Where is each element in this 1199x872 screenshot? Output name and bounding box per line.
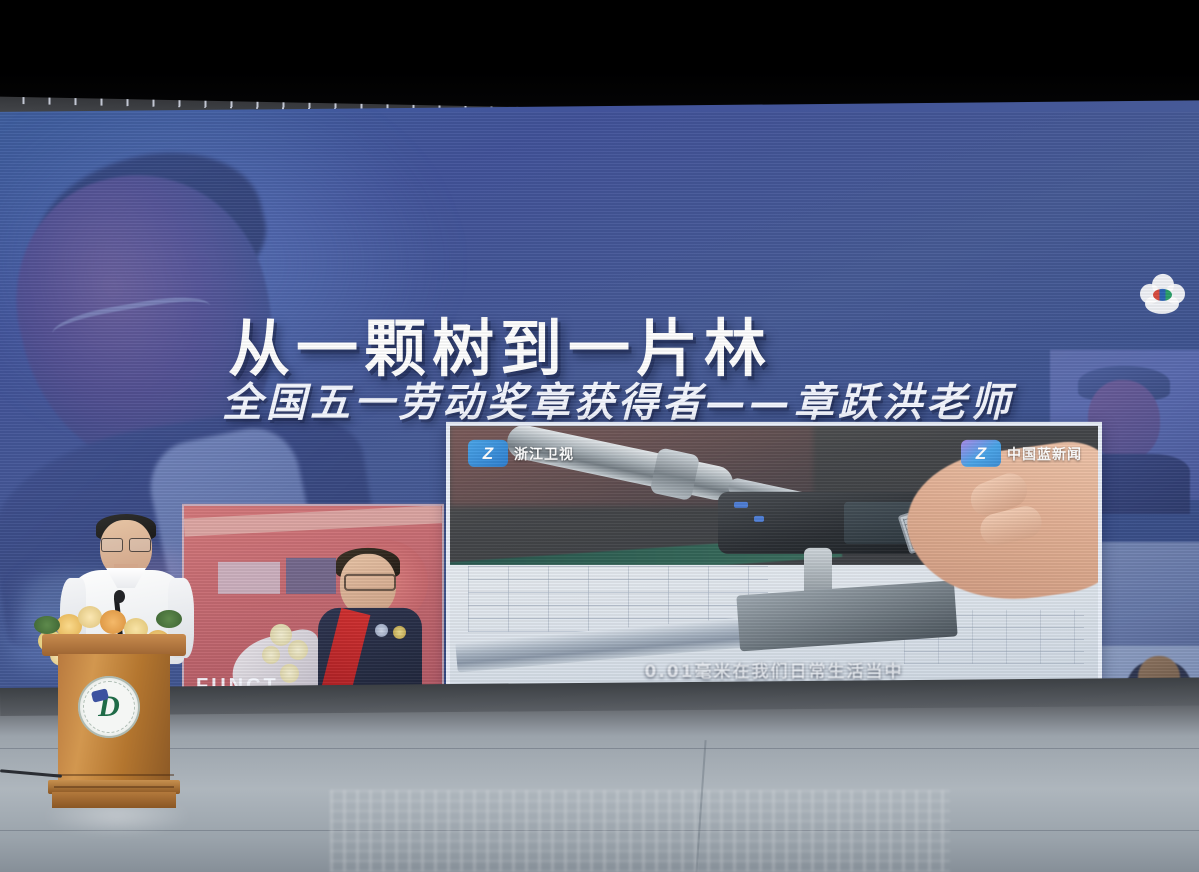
cloud-logo-core (1153, 289, 1172, 301)
wooden-podium: D (48, 634, 180, 808)
caliper-indicator (734, 502, 748, 508)
foliage (156, 610, 182, 628)
emblem-ring (83, 681, 135, 733)
bouquet-flower (280, 664, 299, 683)
recipient-medal (393, 626, 406, 639)
floor-reflection (330, 790, 950, 872)
zhejiang-tv-badge-icon: Z (468, 440, 508, 467)
speaker-glasses-lens (129, 538, 151, 552)
microphone-head-icon (114, 590, 125, 603)
zhejiang-tv-logo: Z 浙江卫视 (468, 440, 574, 467)
speaker-glasses-icon (101, 538, 151, 550)
podium-top (42, 634, 186, 656)
foliage (34, 616, 60, 634)
video-subtitle: 0.01毫米在我们日常生活当中 (450, 657, 1098, 682)
broadcast-video-panel: Z 浙江卫视 Z 中国蓝新闻 0.01毫米在我们日常生活当中 (446, 422, 1102, 697)
stage-scene: 从一颗树到一片林 全国五一劳动奖章获得者——章跃洪老师 (0, 0, 1199, 872)
podium-trim-line (54, 786, 174, 788)
recipient-medal (375, 624, 388, 637)
podium-plinth (52, 792, 176, 808)
cloud-emblem-logo (1136, 272, 1188, 318)
flower (78, 606, 102, 628)
institution-round-emblem: D (78, 676, 140, 738)
bouquet-flower (262, 646, 280, 664)
china-blue-news-logo: Z 中国蓝新闻 (961, 440, 1082, 467)
award-panel (218, 562, 280, 594)
china-blue-label: 中国蓝新闻 (1007, 443, 1082, 463)
speaker-glasses-lens (101, 538, 123, 552)
zhejiang-tv-label: 浙江卫视 (514, 443, 574, 463)
award-ceremony-photo: FUNCT (182, 504, 444, 697)
china-blue-badge-icon: Z (961, 440, 1001, 467)
bouquet-flower (288, 640, 308, 660)
podium-trim-line (54, 774, 174, 776)
recipient-glasses (344, 574, 396, 591)
caliper-indicator (754, 516, 764, 522)
bouquet-flower (270, 624, 292, 646)
award-recipient (316, 548, 422, 697)
page-subtitle: 全国五一劳动奖章获得者——章跃洪老师 (222, 370, 1014, 428)
flower (100, 610, 126, 634)
